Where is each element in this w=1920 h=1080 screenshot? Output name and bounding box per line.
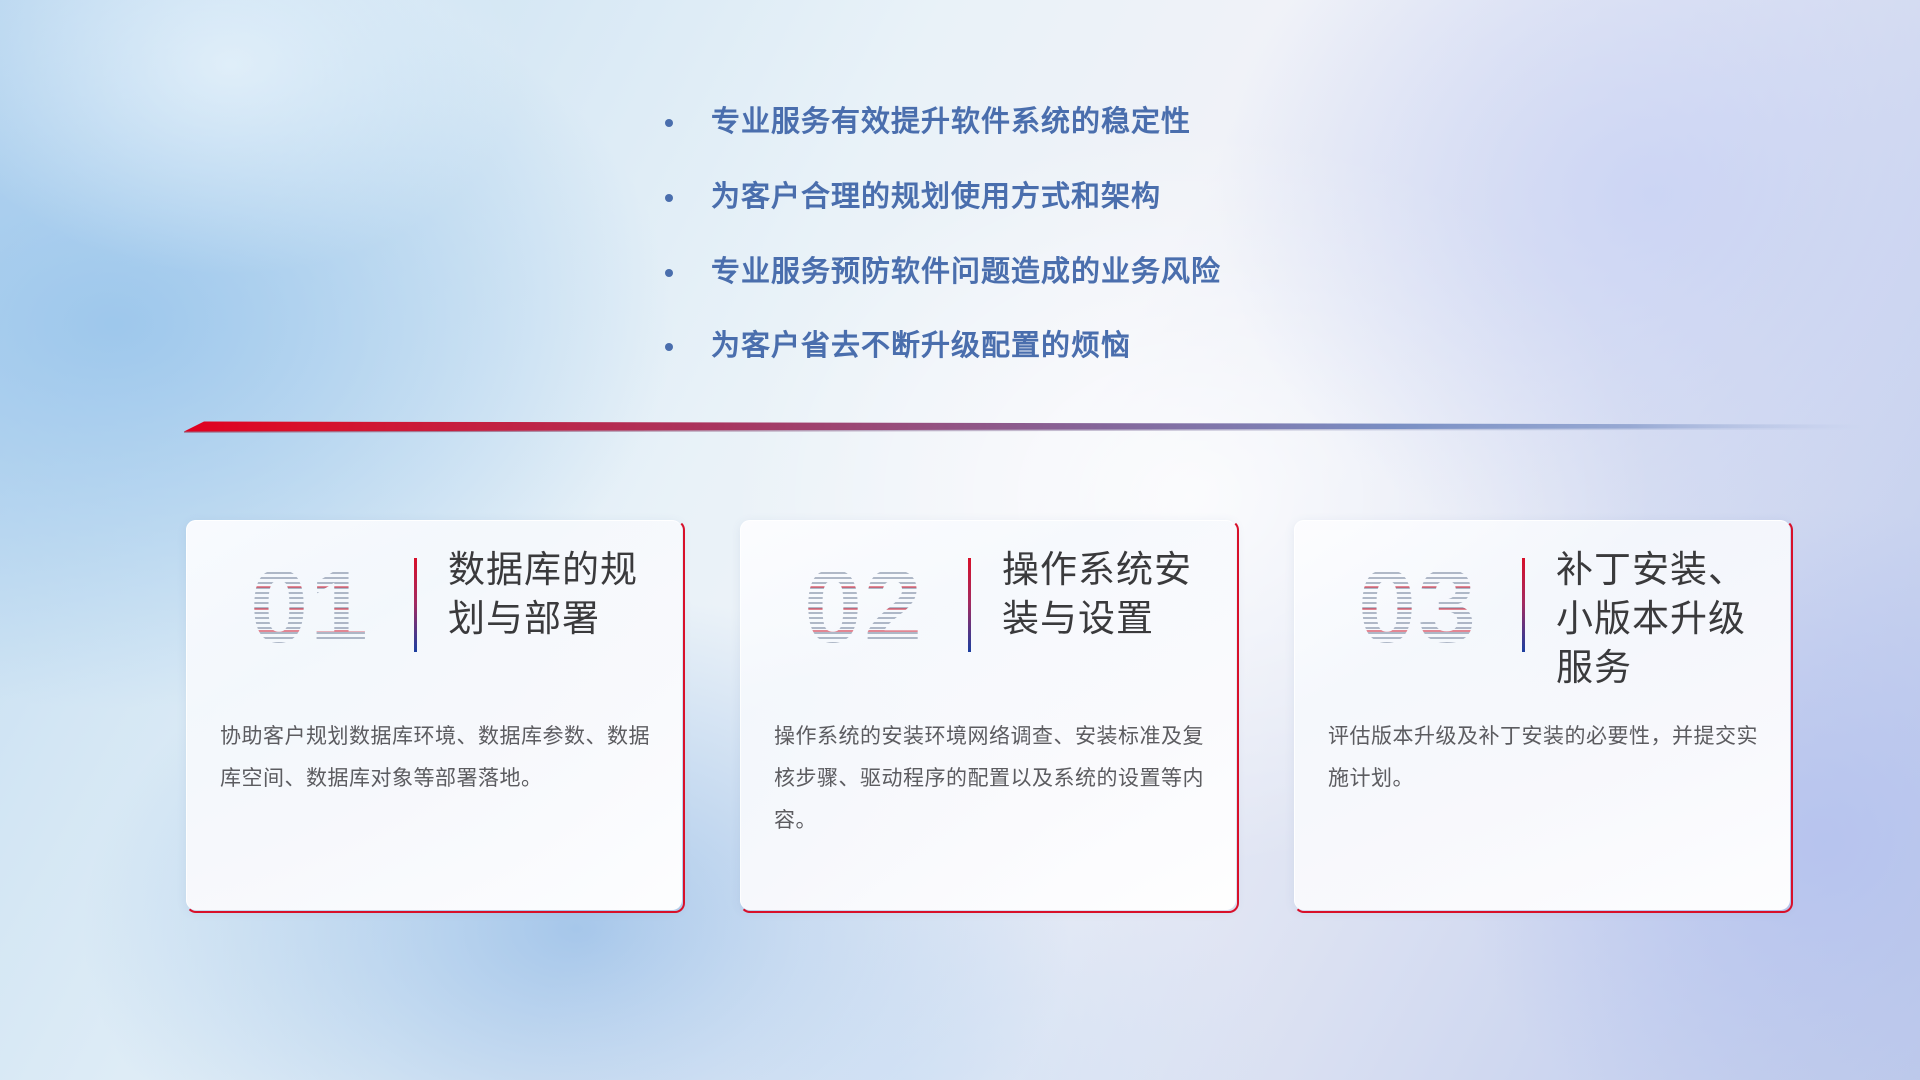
- bullet-dot-icon: [665, 119, 673, 127]
- bullet-dot-icon: [665, 343, 673, 351]
- card-body-text: 操作系统的安装环境网络调查、安装标准及复核步骤、驱动程序的配置以及系统的设置等内…: [774, 716, 1206, 842]
- section-divider: [184, 414, 1864, 440]
- card-body-text: 评估版本升级及补丁安装的必要性，并提交实施计划。: [1328, 716, 1760, 800]
- divider-graphic: [184, 414, 1864, 440]
- service-card[interactable]: 03 03 补丁安装、小版本升级服务 评估版本升级及补丁安装的必要性，并提交实施…: [1294, 520, 1790, 910]
- card-number-striped: 02: [774, 542, 954, 672]
- slide-content: 专业服务有效提升软件系统的稳定性 为客户合理的规划使用方式和架构 专业服务预防软…: [0, 0, 1920, 1080]
- card-header: 02 02 操作系统安装与设置: [740, 520, 1236, 700]
- card-title: 补丁安装、小版本升级服务: [1556, 546, 1770, 692]
- card-number-striped: 01: [220, 542, 400, 672]
- card-title: 数据库的规划与部署: [448, 546, 662, 644]
- bullet-dot-icon: [665, 194, 673, 202]
- card-title-accent-bar: [1522, 558, 1525, 652]
- bullet-text: 为客户省去不断升级配置的烦恼: [711, 329, 1131, 364]
- list-item: 为客户省去不断升级配置的烦恼: [665, 329, 1425, 364]
- card-title: 操作系统安装与设置: [1002, 546, 1216, 644]
- service-card[interactable]: 02 02 操作系统安装与设置 操作系统的安装环境网络调查、安装标准及复核步骤、…: [740, 520, 1236, 910]
- card-title-accent-bar: [414, 558, 417, 652]
- list-item: 专业服务预防软件问题造成的业务风险: [665, 255, 1425, 290]
- list-item: 专业服务有效提升软件系统的稳定性: [665, 105, 1425, 140]
- benefits-bullet-list: 专业服务有效提升软件系统的稳定性 为客户合理的规划使用方式和架构 专业服务预防软…: [665, 105, 1425, 404]
- bullet-text: 专业服务有效提升软件系统的稳定性: [711, 105, 1191, 140]
- card-number-striped: 03: [1328, 542, 1508, 672]
- bullet-dot-icon: [665, 269, 673, 277]
- card-header: 03 03 补丁安装、小版本升级服务: [1294, 520, 1790, 700]
- service-card-grid: 01 01 数据库的规划与部署 协助客户规划数据库环境、数据库参数、数据库空间、…: [186, 520, 1790, 910]
- card-body-text: 协助客户规划数据库环境、数据库参数、数据库空间、数据库对象等部署落地。: [220, 716, 652, 800]
- bullet-text: 为客户合理的规划使用方式和架构: [711, 180, 1161, 215]
- list-item: 为客户合理的规划使用方式和架构: [665, 180, 1425, 215]
- card-title-accent-bar: [968, 558, 971, 652]
- bullet-text: 专业服务预防软件问题造成的业务风险: [711, 255, 1221, 290]
- service-card[interactable]: 01 01 数据库的规划与部署 协助客户规划数据库环境、数据库参数、数据库空间、…: [186, 520, 682, 910]
- card-header: 01 01 数据库的规划与部署: [186, 520, 682, 700]
